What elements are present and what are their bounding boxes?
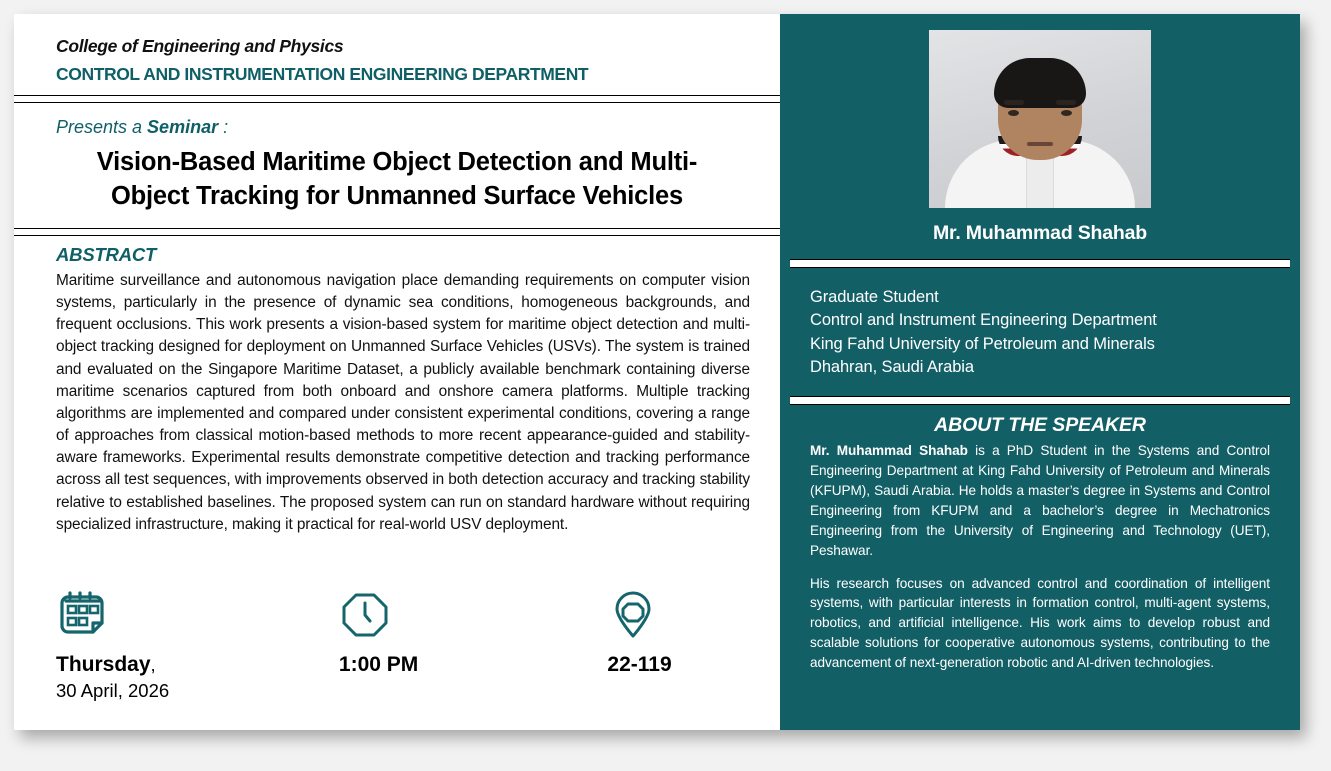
photo-shirt-placket xyxy=(1026,152,1054,208)
photo-eyebrow-left xyxy=(1004,100,1024,105)
event-details-row: Thursday, 30 April, 2026 1:00 PM xyxy=(14,590,780,702)
abstract-text: Maritime surveillance and autonomous nav… xyxy=(56,270,750,536)
right-column: Mr. Muhammad Shahab Graduate Student Con… xyxy=(780,14,1300,730)
photo-eye-left xyxy=(1008,110,1019,116)
about-paragraph-1-text: is a PhD Student in the Systems and Cont… xyxy=(810,443,1270,558)
about-lead-name: Mr. Muhammad Shahab xyxy=(810,443,968,458)
photo-eye-right xyxy=(1061,110,1072,116)
about-divider xyxy=(790,396,1290,405)
event-day-comma: , xyxy=(151,654,156,675)
poster-header: College of Engineering and Physics CONTR… xyxy=(14,14,780,95)
affiliation-line: Control and Instrument Engineering Depar… xyxy=(810,309,1300,332)
event-day-name: Thursday xyxy=(56,653,151,676)
event-time: 1:00 PM xyxy=(339,590,608,702)
about-speaker-heading: ABOUT THE SPEAKER xyxy=(780,405,1300,441)
calendar-icon xyxy=(56,590,339,642)
photo-eyebrow-right xyxy=(1056,100,1076,105)
event-time-value: 1:00 PM xyxy=(339,650,608,680)
presents-suffix: : xyxy=(218,117,228,137)
left-column: College of Engineering and Physics CONTR… xyxy=(14,14,780,730)
speaker-affiliation: Graduate Student Control and Instrument … xyxy=(780,268,1300,396)
event-location: 22-119 xyxy=(607,590,780,702)
about-paragraph-1: Mr. Muhammad Shahab is a PhD Student in … xyxy=(810,441,1270,561)
about-speaker-body: Mr. Muhammad Shahab is a PhD Student in … xyxy=(780,441,1300,687)
event-room: 22-119 xyxy=(607,650,780,680)
header-divider xyxy=(14,95,780,103)
event-date: Thursday, 30 April, 2026 xyxy=(56,590,339,702)
about-paragraph-2: His research focuses on advanced control… xyxy=(810,574,1270,674)
college-name: College of Engineering and Physics xyxy=(56,36,780,57)
event-day: Thursday, xyxy=(56,650,339,680)
abstract-section: ABSTRACT Maritime surveillance and auton… xyxy=(14,236,780,536)
speaker-divider xyxy=(790,259,1290,268)
clock-icon xyxy=(339,590,608,642)
affiliation-line: Dhahran, Saudi Arabia xyxy=(810,356,1300,379)
presents-prefix: Presents a xyxy=(56,117,147,137)
location-pin-icon xyxy=(607,590,780,642)
event-full-date: 30 April, 2026 xyxy=(56,680,339,702)
title-divider xyxy=(14,228,780,236)
seminar-title: Vision-Based Maritime Object Detection a… xyxy=(14,138,780,228)
photo-mouth xyxy=(1027,142,1053,146)
seminar-poster: College of Engineering and Physics CONTR… xyxy=(14,14,1300,730)
presents-line: Presents a Seminar : xyxy=(14,103,780,138)
affiliation-line: Graduate Student xyxy=(810,286,1300,309)
speaker-name: Mr. Muhammad Shahab xyxy=(780,208,1300,259)
speaker-photo-area xyxy=(780,14,1300,208)
abstract-heading: ABSTRACT xyxy=(56,244,750,266)
presents-emphasis: Seminar xyxy=(147,117,218,137)
department-name: CONTROL AND INSTRUMENTATION ENGINEERING … xyxy=(56,64,780,85)
affiliation-line: King Fahd University of Petroleum and Mi… xyxy=(810,333,1300,356)
speaker-photo xyxy=(929,30,1151,208)
